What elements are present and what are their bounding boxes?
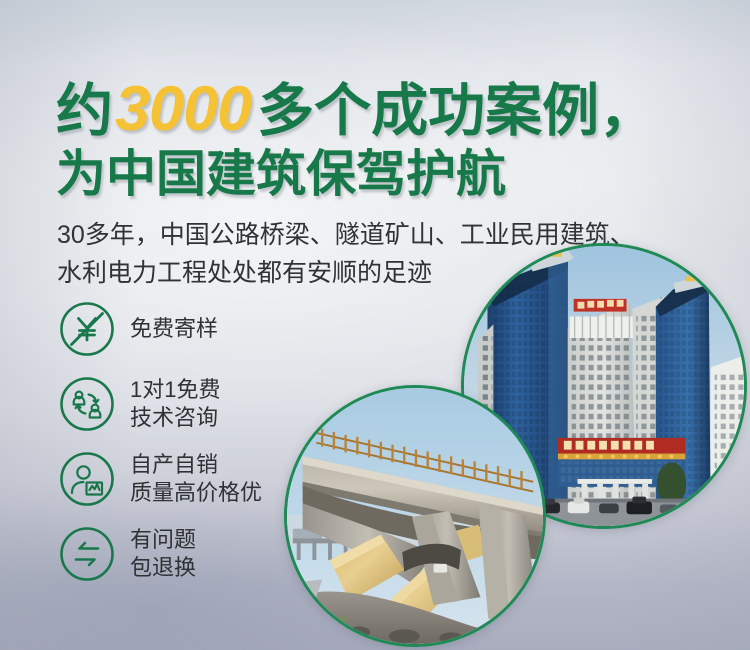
feature-label-line-1: 免费寄样 bbox=[130, 315, 218, 343]
feature-label-line-1: 自产自销 bbox=[130, 451, 262, 479]
feature-label-line-2: 技术咨询 bbox=[130, 404, 220, 432]
feature-label-line-1: 1对1免费 bbox=[130, 376, 220, 404]
bridge-photo bbox=[284, 385, 546, 647]
feature-label-consultation: 1对1免费 技术咨询 bbox=[130, 376, 220, 432]
feature-item-free-sample[interactable]: 免费寄样 bbox=[58, 298, 308, 360]
promo-banner: 约3000多个成功案例， 为中国建筑保驾护航 30多年，中国公路桥梁、隧道矿山、… bbox=[0, 0, 750, 650]
two-people-consult-icon bbox=[58, 375, 116, 433]
headline-block: 约3000多个成功案例， 为中国建筑保驾护航 bbox=[56, 78, 716, 199]
feature-item-consultation[interactable]: 1对1免费 技术咨询 bbox=[58, 373, 308, 435]
headline-number: 3000 bbox=[113, 74, 257, 144]
headline-line-2: 为中国建筑保驾护航 bbox=[56, 149, 716, 199]
yuan-free-icon bbox=[58, 300, 116, 358]
feature-item-quality-price[interactable]: 自产自销 质量高价格优 bbox=[58, 448, 308, 510]
feature-label-line-2: 包退换 bbox=[130, 554, 196, 582]
exchange-arrows-icon bbox=[58, 525, 116, 583]
feature-label-free-sample: 免费寄样 bbox=[130, 315, 218, 343]
feature-label-return-exchange: 有问题 包退换 bbox=[130, 526, 196, 582]
feature-list: 免费寄样 bbox=[58, 298, 308, 598]
feature-label-line-2: 质量高价格优 bbox=[130, 479, 262, 507]
bridge-photo-image bbox=[287, 388, 543, 644]
feature-label-quality-price: 自产自销 质量高价格优 bbox=[130, 451, 262, 507]
headline-suffix: 多个成功案例， bbox=[257, 79, 656, 143]
headline-line-1: 约3000多个成功案例， bbox=[56, 78, 716, 141]
feature-item-return-exchange[interactable]: 有问题 包退换 bbox=[58, 523, 308, 585]
headline-prefix: 约 bbox=[56, 79, 113, 143]
person-chart-icon bbox=[58, 450, 116, 508]
feature-label-line-1: 有问题 bbox=[130, 526, 196, 554]
